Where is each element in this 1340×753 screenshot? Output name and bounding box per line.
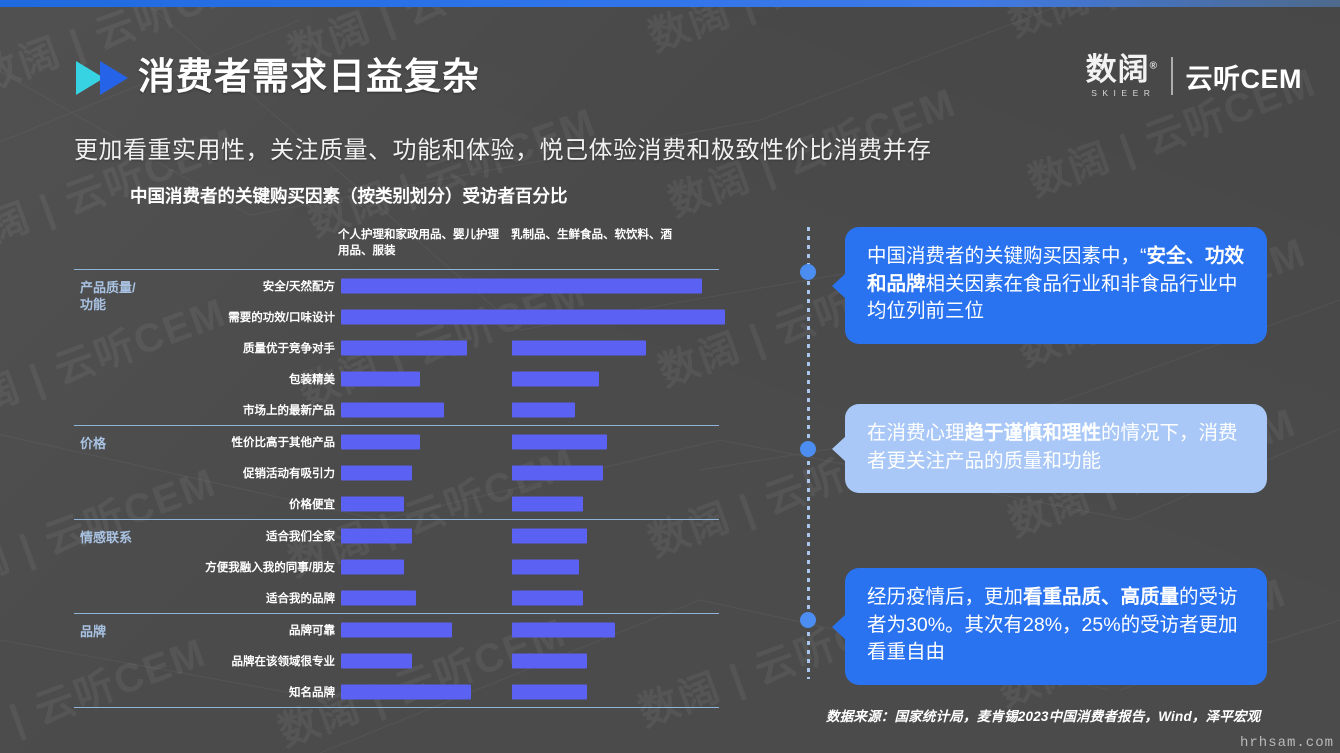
- chart-bar: [512, 309, 725, 324]
- chart: 中国消费者的关键购买因素（按类别划分）受访者百分比 个人护理和家政用品、婴儿护理…: [74, 183, 719, 703]
- callout-box-2: 在消费心理趋于谨慎和理性的情况下，消费者更关注产品的质量和功能: [845, 404, 1267, 493]
- brand-name-en: SKIEER: [1086, 88, 1158, 98]
- chart-row: 价格便宜: [74, 488, 719, 519]
- chart-bar: [512, 528, 587, 543]
- chart-bar: [512, 340, 646, 355]
- chart-bar: [341, 684, 471, 699]
- callout-pointer-icon: [832, 273, 846, 299]
- page-title: 消费者需求日益复杂: [138, 46, 480, 100]
- callout-pointer-icon: [832, 436, 846, 462]
- slide-subtitle: 更加看重实用性，关注质量、功能和体验，悦己体验消费和极致性价比消费并存: [74, 130, 932, 165]
- chart-row: 适合我的品牌: [74, 582, 719, 613]
- chart-bar: [512, 496, 583, 511]
- chart-row: 质量优于竞争对手: [74, 332, 719, 363]
- chart-row-label: 性价比高于其他产品: [232, 434, 336, 450]
- chart-row-label: 包装精美: [289, 371, 335, 387]
- connector-dot: [800, 441, 816, 457]
- chart-bar: [512, 434, 607, 449]
- chart-bar: [512, 653, 587, 668]
- chart-bar: [512, 465, 603, 480]
- chart-bar: [512, 371, 599, 386]
- chart-row-label: 质量优于竞争对手: [243, 340, 335, 356]
- chart-bar: [341, 402, 444, 417]
- chart-bottom-rule: [74, 707, 719, 708]
- chart-row: 方便我融入我的同事/朋友: [74, 551, 719, 582]
- chart-bar: [512, 622, 615, 637]
- chart-bar: [341, 622, 452, 637]
- brand-divider: [1171, 57, 1173, 95]
- chart-bar: [341, 559, 404, 574]
- top-accent-bar: [0, 0, 1340, 7]
- chart-row: 性价比高于其他产品: [74, 426, 719, 457]
- chart-row: 需要的功效/口味设计: [74, 301, 719, 332]
- chart-bar: [512, 559, 579, 574]
- chart-bar: [512, 402, 575, 417]
- chart-row: 知名品牌: [74, 676, 719, 707]
- chart-title: 中国消费者的关键购买因素（按类别划分）受访者百分比: [130, 183, 568, 208]
- chart-bar: [512, 684, 587, 699]
- chart-bar: [341, 434, 420, 449]
- connector-dot: [800, 612, 816, 628]
- chart-row: 品牌在该领域很专业: [74, 645, 719, 676]
- chart-row-label: 适合我的品牌: [266, 590, 335, 606]
- chart-row-label: 价格便宜: [289, 496, 335, 512]
- chart-column-header-1: 个人护理和家政用品、婴儿护理用品、服装: [338, 228, 503, 259]
- chart-row: 品牌可靠: [74, 614, 719, 645]
- callout-text-1: 中国消费者的关键购买因素中，“安全、功效和品牌相关因素在食品行业和非食品行业中均…: [867, 243, 1247, 326]
- connector-dot: [800, 264, 816, 280]
- callout-text-2: 在消费心理趋于谨慎和理性的情况下，消费者更关注产品的质量和功能: [867, 420, 1247, 475]
- slide-header: 消费者需求日益复杂 数阔® SKIEER 云听CEM: [0, 48, 1340, 108]
- chart-row-label: 知名品牌: [289, 684, 335, 700]
- chart-rows: 产品质量/功能安全/天然配方需要的功效/口味设计质量优于竞争对手包装精美市场上的…: [74, 269, 719, 708]
- chart-row-label: 需要的功效/口味设计: [228, 309, 335, 325]
- callout-box-1: 中国消费者的关键购买因素中，“安全、功效和品牌相关因素在食品行业和非食品行业中均…: [845, 227, 1267, 344]
- chart-category-group: 品牌品牌可靠品牌在该领域很专业知名品牌: [74, 613, 719, 707]
- callout-text-3: 经历疫情后，更加看重品质、高质量的受访者为30%。其次有28%，25%的受访者更…: [867, 584, 1247, 667]
- brand-logo: 数阔® SKIEER 云听CEM: [1086, 52, 1302, 100]
- chart-bar: [341, 653, 412, 668]
- callout-box-3: 经历疫情后，更加看重品质、高质量的受访者为30%。其次有28%，25%的受访者更…: [845, 568, 1267, 685]
- chart-bar: [512, 278, 702, 293]
- source-note: 数据来源：国家统计局，麦肯锡2023中国消费者报告，Wind，泽平宏观: [826, 705, 1260, 725]
- chart-bar: [341, 340, 467, 355]
- chart-row-label: 适合我们全家: [266, 528, 335, 544]
- brand-mark: 数阔® SKIEER: [1086, 54, 1158, 98]
- chart-bar: [341, 496, 404, 511]
- chart-bar: [512, 590, 583, 605]
- chart-row: 安全/天然配方: [74, 270, 719, 301]
- chart-bar: [341, 309, 519, 324]
- brand-product-name: 云听CEM: [1186, 57, 1303, 96]
- chart-bar: [341, 465, 412, 480]
- chart-row: 促销活动有吸引力: [74, 457, 719, 488]
- brand-name-cn-text: 数阔: [1086, 52, 1150, 87]
- chart-bar: [341, 590, 416, 605]
- double-play-triangle-icon: [74, 58, 132, 98]
- chart-row: 市场上的最新产品: [74, 394, 719, 425]
- chart-bar: [341, 528, 412, 543]
- chart-row-label: 品牌可靠: [289, 622, 335, 638]
- chart-category-group: 产品质量/功能安全/天然配方需要的功效/口味设计质量优于竞争对手包装精美市场上的…: [74, 269, 719, 425]
- chart-row-label: 市场上的最新产品: [243, 402, 335, 418]
- chart-row: 适合我们全家: [74, 520, 719, 551]
- registered-mark-icon: ®: [1150, 61, 1158, 72]
- site-watermark: hrhsam.com: [1240, 735, 1334, 751]
- chart-category-group: 价格性价比高于其他产品促销活动有吸引力价格便宜: [74, 425, 719, 519]
- chart-bar: [341, 278, 515, 293]
- brand-name-cn: 数阔®: [1086, 54, 1158, 85]
- chart-row-label: 方便我融入我的同事/朋友: [205, 559, 335, 575]
- chart-bar: [341, 371, 420, 386]
- callout-connector-line: [806, 227, 811, 679]
- chart-category-group: 情感联系适合我们全家方便我融入我的同事/朋友适合我的品牌: [74, 519, 719, 613]
- chart-row-label: 品牌在该领域很专业: [232, 653, 336, 669]
- chart-row-label: 安全/天然配方: [263, 278, 335, 294]
- chart-row: 包装精美: [74, 363, 719, 394]
- chart-column-header-2: 乳制品、生鲜食品、软饮料、酒: [511, 228, 676, 244]
- callout-pointer-icon: [832, 614, 846, 640]
- chart-row-label: 促销活动有吸引力: [243, 465, 335, 481]
